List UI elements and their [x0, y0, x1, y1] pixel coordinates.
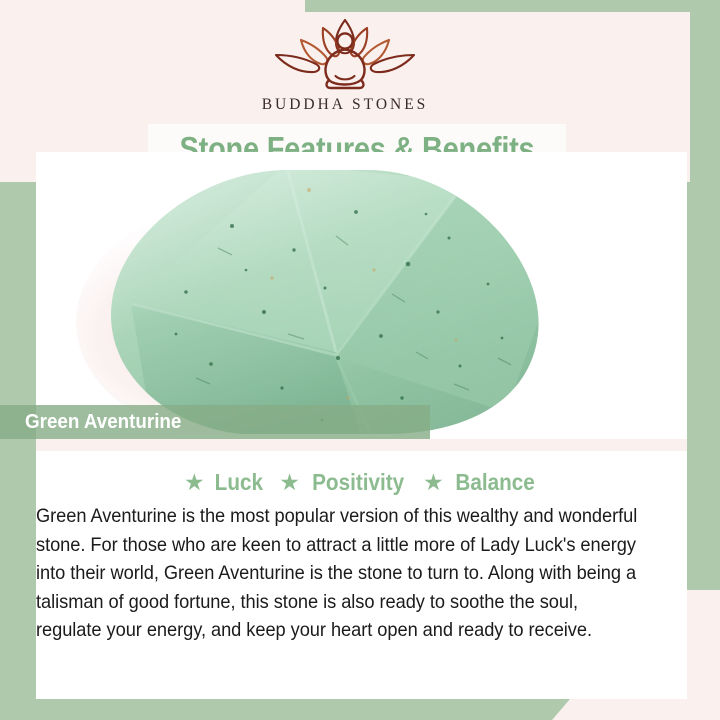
benefits-row: ★ Luck ★ Positivity ★ Balance: [36, 466, 687, 498]
section-divider: [36, 439, 687, 451]
frame-band-right: [687, 0, 720, 590]
brand-logo: BUDDHA STONES: [0, 14, 690, 114]
brand-name: BUDDHA STONES: [262, 96, 429, 114]
star-icon: ★: [279, 471, 300, 494]
product-label-bar: Green Aventurine: [0, 405, 430, 439]
green-aventurine-stone-photo: [36, 152, 687, 434]
frame-band-bottom: [0, 699, 570, 720]
benefit-label: Balance: [455, 469, 534, 496]
benefit-item-positivity: ★ Positivity: [279, 469, 409, 496]
description-text: Green Aventurine is the most popular ver…: [36, 503, 666, 646]
lotus-meditation-icon: [256, 14, 434, 92]
benefit-label: Positivity: [312, 469, 404, 496]
benefit-label: Luck: [214, 469, 262, 496]
benefit-item-luck: ★ Luck: [184, 469, 265, 496]
product-label: Green Aventurine: [25, 411, 181, 434]
star-icon: ★: [423, 471, 444, 494]
stone-photo: [36, 152, 687, 434]
benefit-item-balance: ★ Balance: [423, 469, 539, 496]
star-icon: ★: [184, 471, 205, 494]
